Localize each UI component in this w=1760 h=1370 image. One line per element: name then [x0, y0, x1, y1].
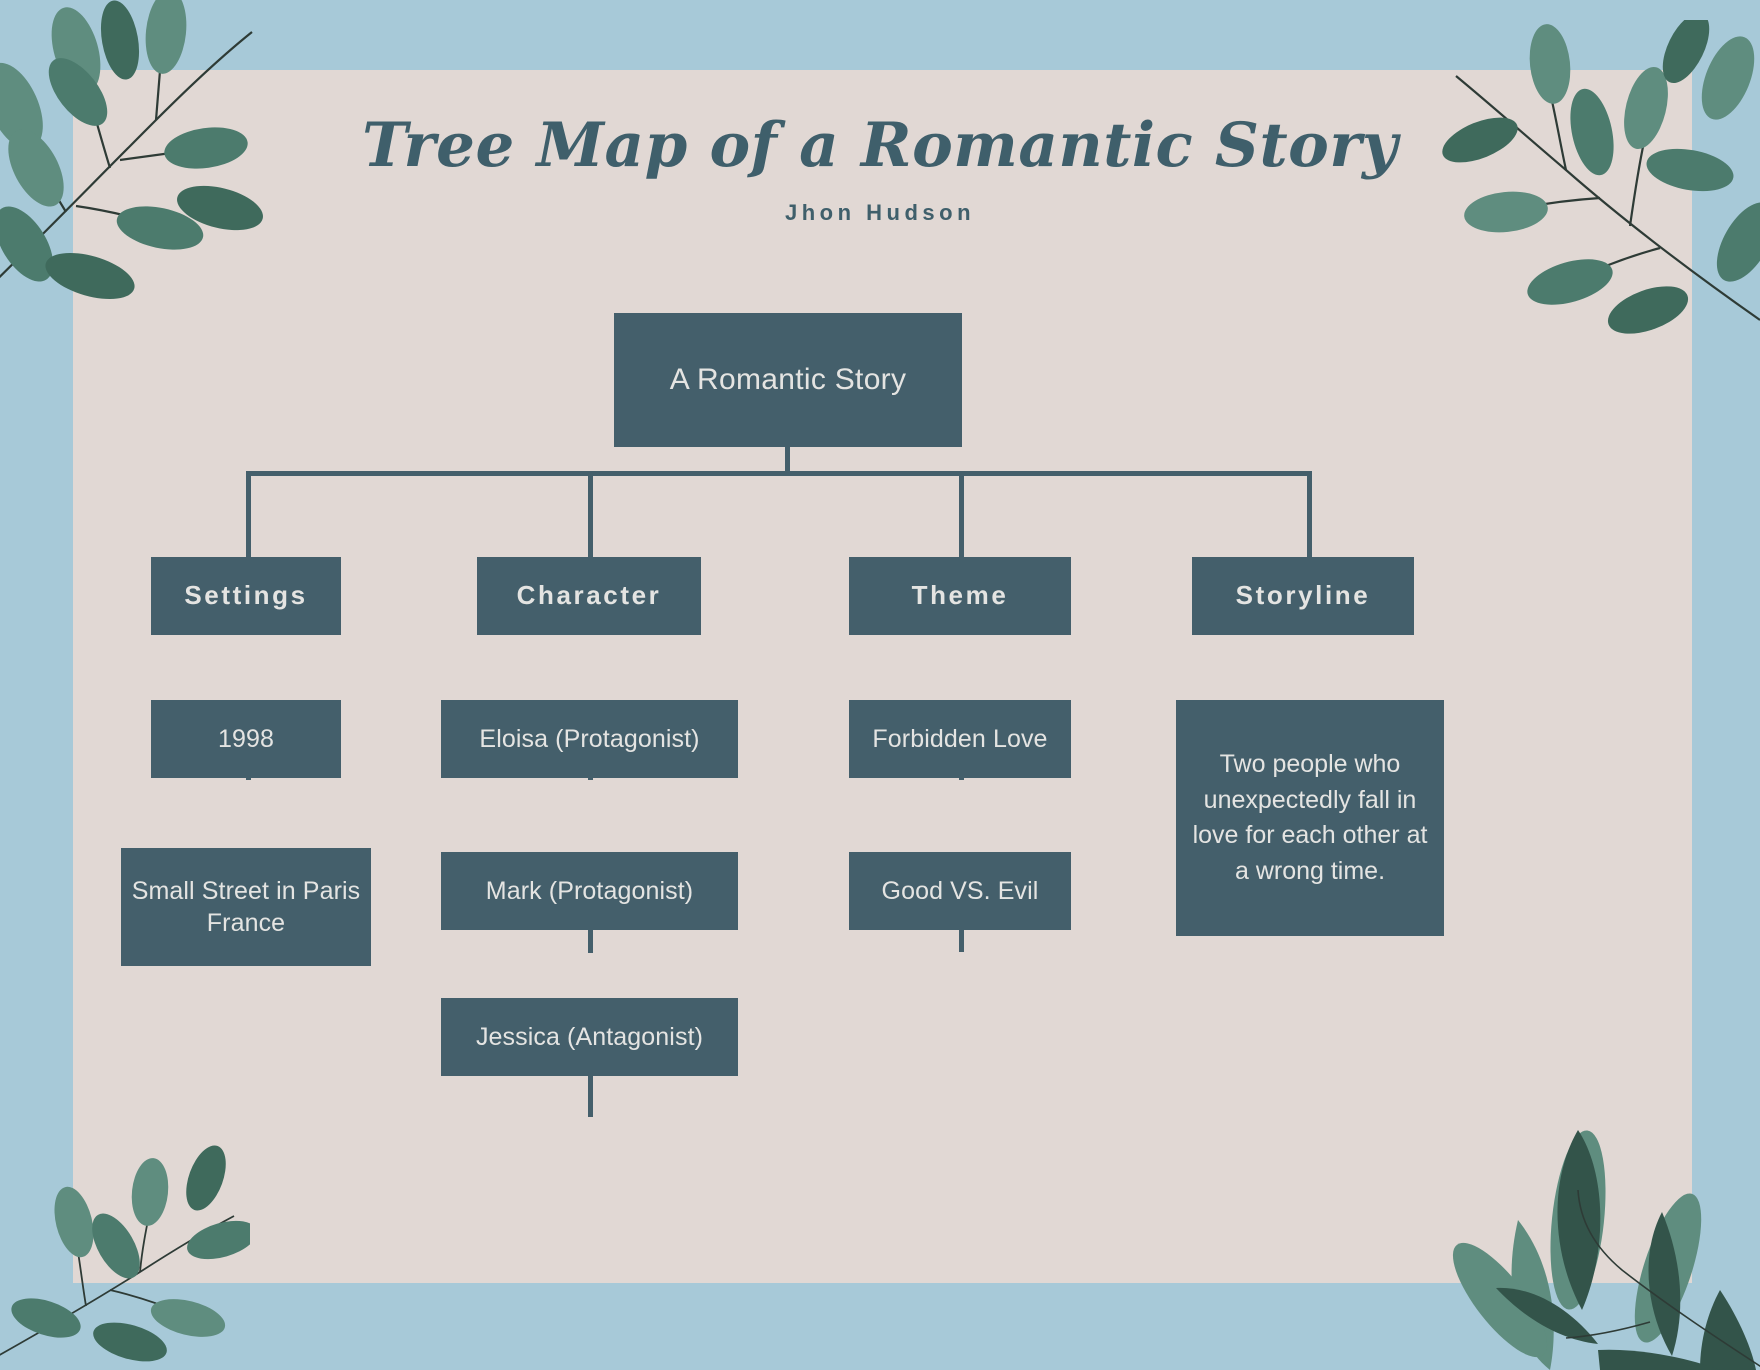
poster-canvas: Tree Map of a Romantic Story Jhon Hudson…	[0, 0, 1760, 1360]
author-name: Jhon Hudson	[0, 200, 1760, 226]
node-category-settings[interactable]: Settings	[151, 557, 341, 635]
node-root[interactable]: A Romantic Story	[614, 313, 962, 447]
connector-bus	[246, 471, 1312, 476]
content-panel	[73, 70, 1692, 1283]
node-category-character[interactable]: Character	[477, 557, 701, 635]
node-theme-forbidden-love[interactable]: Forbidden Love	[849, 700, 1071, 778]
page-title: Tree Map of a Romantic Story	[0, 110, 1760, 181]
node-theme-good-vs-evil[interactable]: Good VS. Evil	[849, 852, 1071, 930]
node-storyline-summary[interactable]: Two people who unexpectedly fall in love…	[1176, 700, 1444, 936]
node-character-jessica[interactable]: Jessica (Antagonist)	[441, 998, 738, 1076]
node-settings-year[interactable]: 1998	[151, 700, 341, 778]
node-category-theme[interactable]: Theme	[849, 557, 1071, 635]
node-settings-place[interactable]: Small Street in Paris France	[121, 848, 371, 966]
node-category-storyline[interactable]: Storyline	[1192, 557, 1414, 635]
node-character-mark[interactable]: Mark (Protagonist)	[441, 852, 738, 930]
node-character-eloisa[interactable]: Eloisa (Protagonist)	[441, 700, 738, 778]
